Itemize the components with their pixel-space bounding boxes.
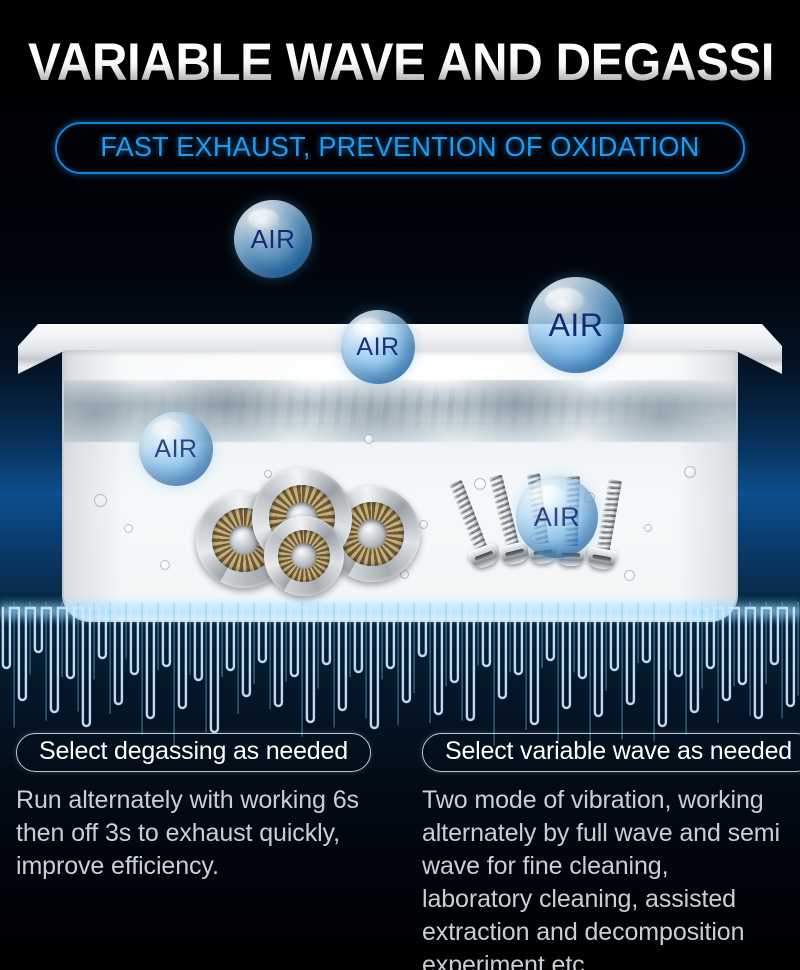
title-block: VARIABLE WAVE AND DEGASSING xyxy=(0,36,800,89)
air-bubble: AIR xyxy=(528,277,624,373)
degassing-heading-pill: Select degassing as needed xyxy=(16,733,371,772)
air-bubble: AIR xyxy=(234,200,312,278)
degassing-body: Run alternately with working 6s then off… xyxy=(16,784,384,883)
column-degassing: Select degassing as needed Run alternate… xyxy=(0,733,400,970)
variable-wave-body: Two mode of vibration, working alternate… xyxy=(422,784,784,970)
poster-root: VARIABLE WAVE AND DEGASSING FAST EXHAUST… xyxy=(0,0,800,970)
column-variable-wave: Select variable wave as needed Two mode … xyxy=(400,733,800,970)
air-bubble-label: AIR xyxy=(356,333,399,362)
air-bubble: AIR xyxy=(341,310,415,384)
air-bubble-label: AIR xyxy=(154,435,197,464)
ultrasonic-waveform xyxy=(0,520,800,750)
air-bubble-label: AIR xyxy=(251,224,296,255)
degassing-heading: Select degassing as needed xyxy=(39,737,348,765)
subtitle-text: FAST EXHAUST, PREVENTION OF OXIDATION xyxy=(100,131,699,163)
ball-bearing xyxy=(264,516,344,596)
page-title: VARIABLE WAVE AND DEGASSING xyxy=(28,36,772,89)
variable-wave-heading-pill: Select variable wave as needed xyxy=(422,733,800,772)
air-bubble: AIR xyxy=(139,412,213,486)
variable-wave-heading: Select variable wave as needed xyxy=(445,737,792,765)
subtitle-block: FAST EXHAUST, PREVENTION OF OXIDATION xyxy=(0,122,800,174)
air-bubble-label: AIR xyxy=(549,307,604,344)
waveform-svg xyxy=(0,520,800,750)
bottom-columns: Select degassing as needed Run alternate… xyxy=(0,733,800,970)
subtitle-pill: FAST EXHAUST, PREVENTION OF OXIDATION xyxy=(55,122,745,174)
